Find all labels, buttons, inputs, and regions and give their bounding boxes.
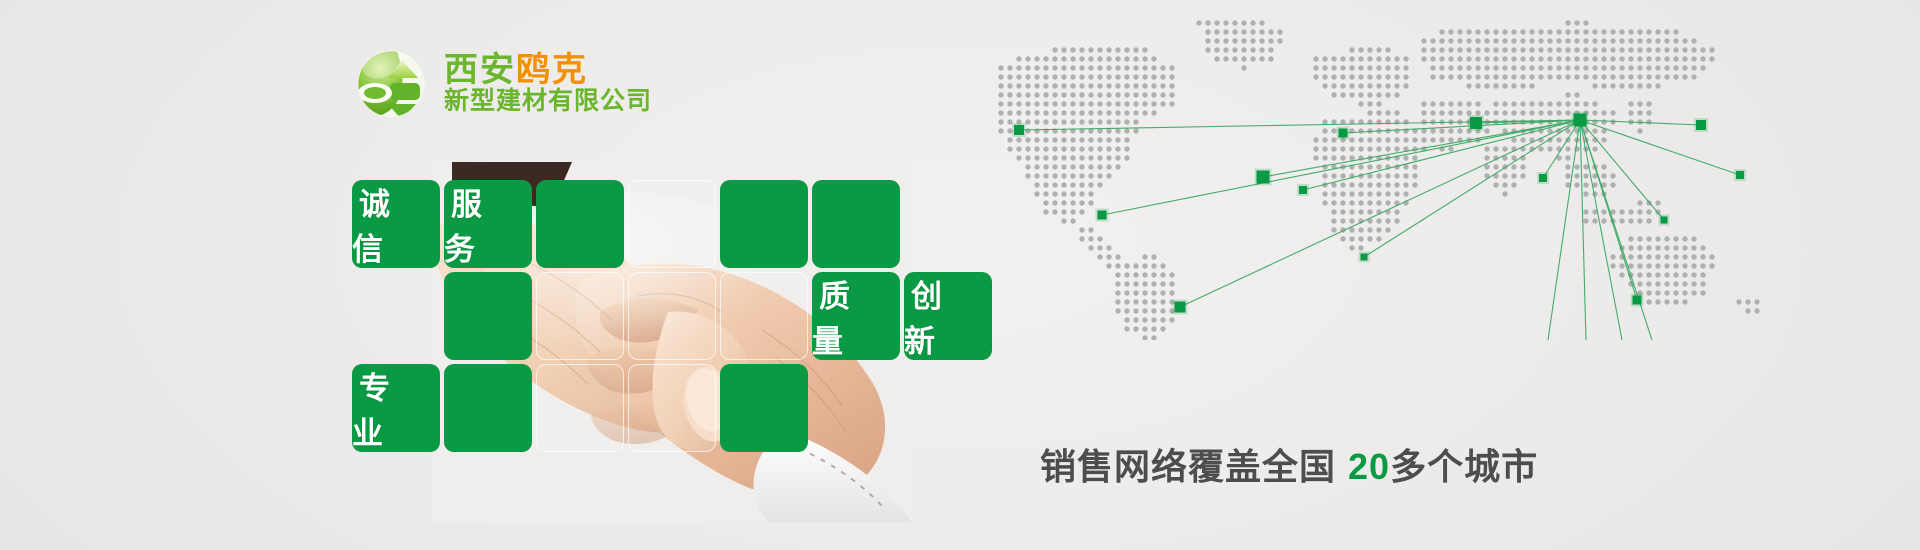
company-globe-logo-icon: [352, 44, 430, 122]
value-tile-mosaic: 诚 信服 务质 量创 新专 业: [352, 180, 992, 510]
company-banner: 西安鸥克 新型建材有限公司: [0, 0, 1920, 550]
logo-subtitle: 新型建材有限公司: [444, 89, 652, 114]
tagline-suffix: 多个城市: [1390, 446, 1538, 487]
mosaic-tile-solid: [812, 180, 900, 268]
tagline-prefix: 销售网络覆盖全国: [1040, 446, 1336, 487]
mosaic-tile-solid: [720, 364, 808, 452]
world-dot-map: [880, 10, 1780, 340]
tile-label: 诚 信: [352, 180, 440, 268]
tile-label: 质 量: [812, 272, 900, 360]
value-tile-integrity[interactable]: 诚 信: [352, 180, 440, 268]
company-logo[interactable]: 西安鸥克 新型建材有限公司: [352, 44, 652, 122]
mosaic-tile-solid: [536, 180, 624, 268]
mosaic-tile-glass: [536, 272, 624, 360]
value-tile-professional[interactable]: 专 业: [352, 364, 440, 452]
tile-label: 创 新: [904, 272, 992, 360]
value-tile-service[interactable]: 服 务: [444, 180, 532, 268]
logo-brand-name: 鸥克: [516, 51, 588, 89]
logo-company-name-line: 西安鸥克: [444, 53, 652, 87]
logo-city-name: 西安: [444, 51, 516, 89]
mosaic-tile-glass: [628, 272, 716, 360]
world-map-svg: [880, 10, 1780, 340]
mosaic-tile-glass: [720, 272, 808, 360]
logo-text-block: 西安鸥克 新型建材有限公司: [444, 53, 652, 114]
sales-network-tagline: 销售网络覆盖全国20多个城市: [1040, 438, 1538, 490]
mosaic-tile-glass: [536, 364, 624, 452]
mosaic-tile-solid: [720, 180, 808, 268]
tagline-number: 20: [1348, 446, 1390, 487]
mosaic-tile-glass: [628, 180, 716, 268]
map-dot-grid: [998, 20, 1759, 340]
tile-label: 专 业: [352, 364, 440, 452]
value-tile-innovation[interactable]: 创 新: [904, 272, 992, 360]
mosaic-tile-glass: [628, 364, 716, 452]
mosaic-tile-solid: [444, 364, 532, 452]
tile-label: 服 务: [444, 180, 532, 268]
value-tile-quality[interactable]: 质 量: [812, 272, 900, 360]
mosaic-tile-solid: [444, 272, 532, 360]
